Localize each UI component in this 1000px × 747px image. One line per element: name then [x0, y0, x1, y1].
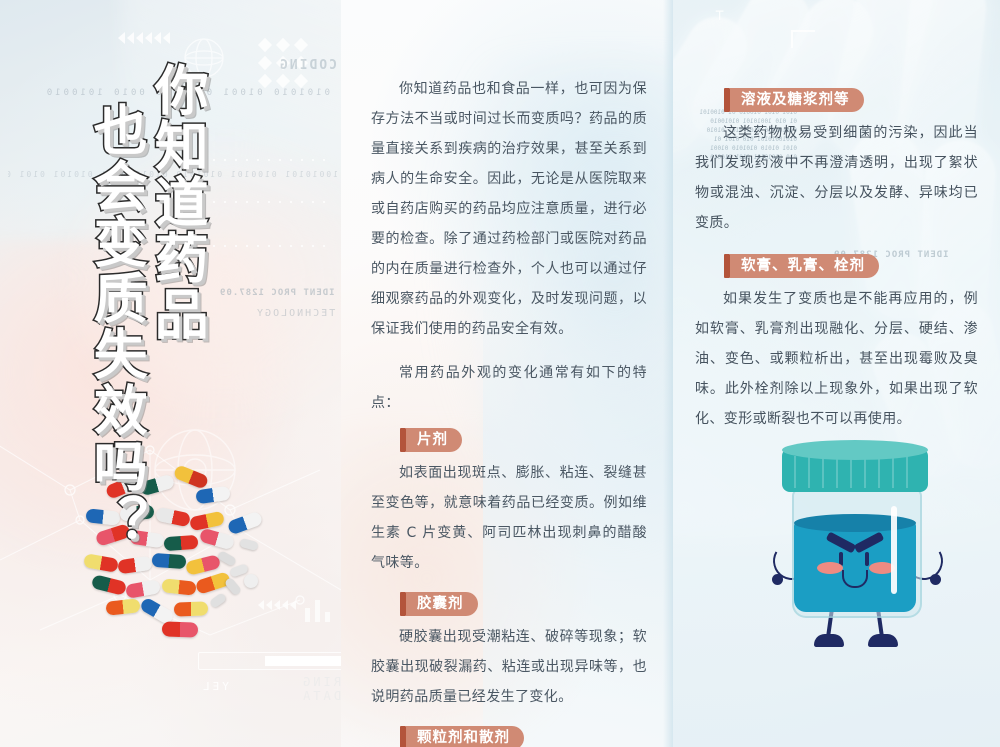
intro-paragraph: 你知道药品也和食品一样，也可因为保存方法不当或时间过长而变质吗？药品的质量直接关…: [371, 74, 647, 344]
middle-content: 你知道药品也和食品一样，也可因为保存方法不当或时间过长而变质吗？药品的质量直接关…: [341, 0, 673, 747]
cover-title-column-left: 也会变质失效吗？: [88, 102, 143, 550]
mascot-foot-right: [868, 634, 898, 647]
section-granules-powders: 颗粒剂和散剂 应保证干燥、松散，颗粒均匀等，如出现受潮结块、异臭、色点、虫蛀或霉…: [371, 726, 647, 747]
jar-highlight: [891, 506, 897, 594]
section-ointments-suppositories: 软膏、乳膏、栓剂 如果发生了变质也是不能再应用的，例如软膏、乳膏剂出现融化、分层…: [695, 254, 978, 434]
medicine-jar-mascot: [760, 448, 950, 648]
section-solutions-syrups: 溶液及糖浆剂等 这类药物极易受到细菌的污染，因此当我们发现药液中不再澄清透明，出…: [695, 88, 978, 238]
lead-paragraph: 常用药品外观的变化通常有如下的特点：: [371, 358, 647, 418]
jar-liquid: [794, 522, 916, 612]
tag-label: 胶囊剂: [406, 592, 478, 616]
page-title: 你知道药品 也会变质失效吗？: [88, 62, 204, 550]
section-tag-tablets: 片剂: [400, 428, 462, 452]
section-capsules: 胶囊剂 硬胶囊出现受潮粘连、破碎等现象；软胶囊出现破裂漏药、粘连或出现异味等，也…: [371, 592, 647, 712]
section-body-ointments-suppositories: 如果发生了变质也是不能再应用的，例如软膏、乳膏剂出现融化、分层、硬结、渗油、变色…: [695, 284, 978, 434]
section-tag-granules-powders: 颗粒剂和散剂: [400, 726, 524, 747]
right-content: 溶液及糖浆剂等 这类药物极易受到细菌的污染，因此当我们发现药液中不再澄清透明，出…: [673, 0, 1000, 434]
panel-cover: 0101010 01001 0101010 0010 1010010 10010…: [0, 0, 341, 747]
section-body-solutions-syrups: 这类药物极易受到细菌的污染，因此当我们发现药液中不再澄清透明，出现了絮状物或混浊…: [695, 118, 978, 238]
jar-lid-top: [782, 440, 928, 460]
mascot-eye-right: [865, 552, 869, 566]
mascot-foot-left: [814, 634, 844, 647]
trifold-brochure: 0101010 01001 0101010 0010 1010010 10010…: [0, 0, 1000, 747]
section-tag-solutions-syrups: 溶液及糖浆剂等: [724, 88, 864, 112]
mascot-hand-left: [772, 574, 783, 585]
tag-label: 颗粒剂和散剂: [406, 726, 524, 747]
hud-yel-label: YEL: [200, 680, 229, 693]
section-body-tablets: 如表面出现斑点、膨胀、粘连、裂缝甚至变色等，就意味着药品已经变质。例如维生素 C…: [371, 458, 647, 578]
panel-middle: 你知道药品也和食品一样，也可因为保存方法不当或时间过长而变质吗？药品的质量直接关…: [341, 0, 673, 747]
section-tag-ointments-suppositories: 软膏、乳膏、栓剂: [724, 254, 879, 278]
tag-label: 片剂: [406, 428, 462, 452]
section-tablets: 片剂 如表面出现斑点、膨胀、粘连、裂缝甚至变色等，就意味着药品已经变质。例如维生…: [371, 428, 647, 578]
section-tag-capsules: 胶囊剂: [400, 592, 478, 616]
mascot-hand-right: [930, 574, 941, 585]
cover-title-column-right: 你知道药品: [149, 62, 204, 550]
mascot-cheek-left: [817, 562, 843, 574]
tag-label: 软膏、乳膏、栓剂: [730, 254, 879, 278]
tag-label: 溶液及糖浆剂等: [730, 88, 864, 112]
jar-liquid-surface: [794, 514, 916, 532]
section-body-capsules: 硬胶囊出现受潮粘连、破碎等现象；软胶囊出现破裂漏药、粘连或出现异味等，也说明药品…: [371, 622, 647, 712]
